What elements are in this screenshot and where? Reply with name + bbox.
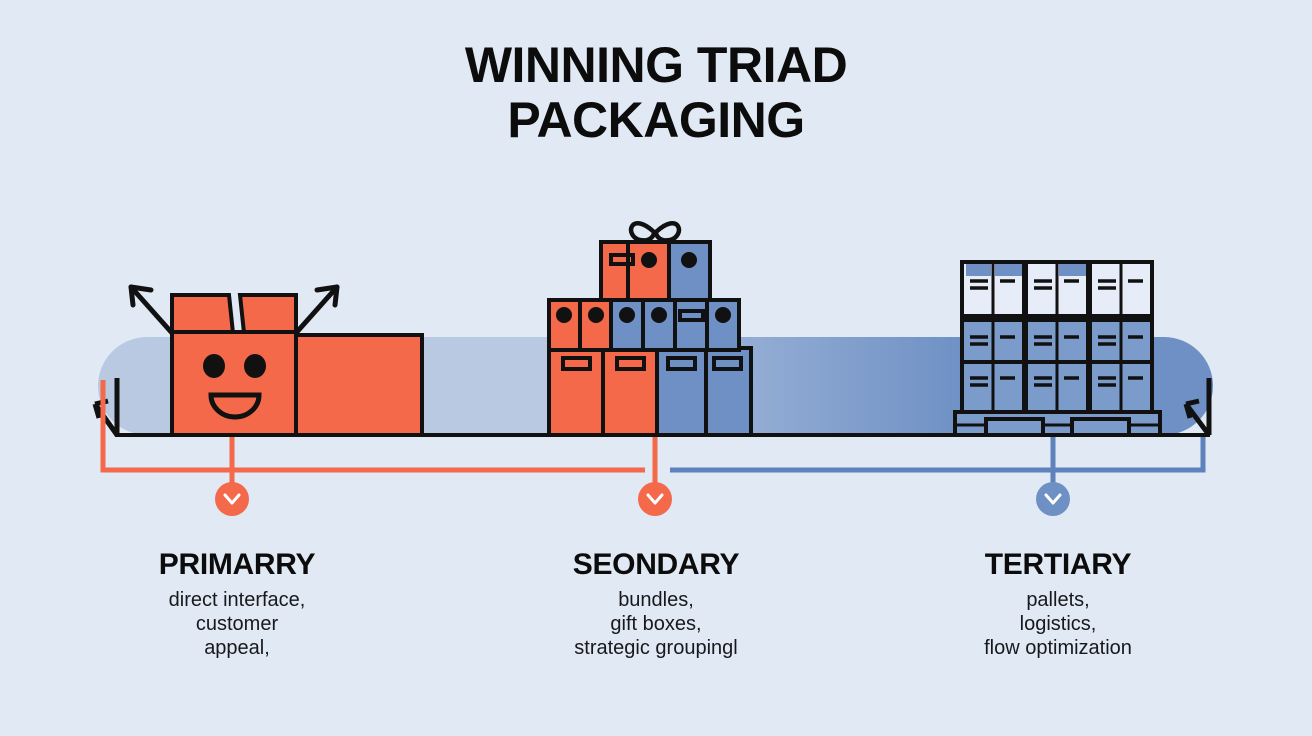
stage-label-tertiary: TERTIARY pallets, logistics, flow optimi… (918, 548, 1198, 660)
connector-tertiary (670, 437, 1203, 492)
stage-body-primary: direct interface, customer appeal, (96, 588, 378, 660)
stage-label-primary: PRIMARRY direct interface, customer appe… (96, 548, 378, 660)
secondary-boxes-icon (549, 223, 751, 435)
tertiary-pallet-icon (955, 262, 1160, 435)
pallet-base (955, 412, 1160, 435)
marker-tertiary[interactable] (1036, 482, 1070, 516)
stage-label-secondary: SEONDARY bundles, gift boxes, strategic … (516, 548, 796, 660)
stage-heading-primary: PRIMARRY (96, 548, 378, 582)
stage-body-secondary: bundles, gift boxes, strategic groupingl (516, 588, 796, 660)
stage-body-tertiary: pallets, logistics, flow optimization (918, 588, 1198, 660)
stage-heading-tertiary: TERTIARY (918, 548, 1198, 582)
primary-box-icon (131, 287, 422, 435)
marker-primary[interactable] (215, 482, 249, 516)
marker-secondary[interactable] (638, 482, 672, 516)
infographic-canvas: WINNING TRIAD PACKAGING (0, 0, 1312, 736)
stage-labels: PRIMARRY direct interface, customer appe… (0, 548, 1312, 688)
stage-heading-secondary: SEONDARY (516, 548, 796, 582)
